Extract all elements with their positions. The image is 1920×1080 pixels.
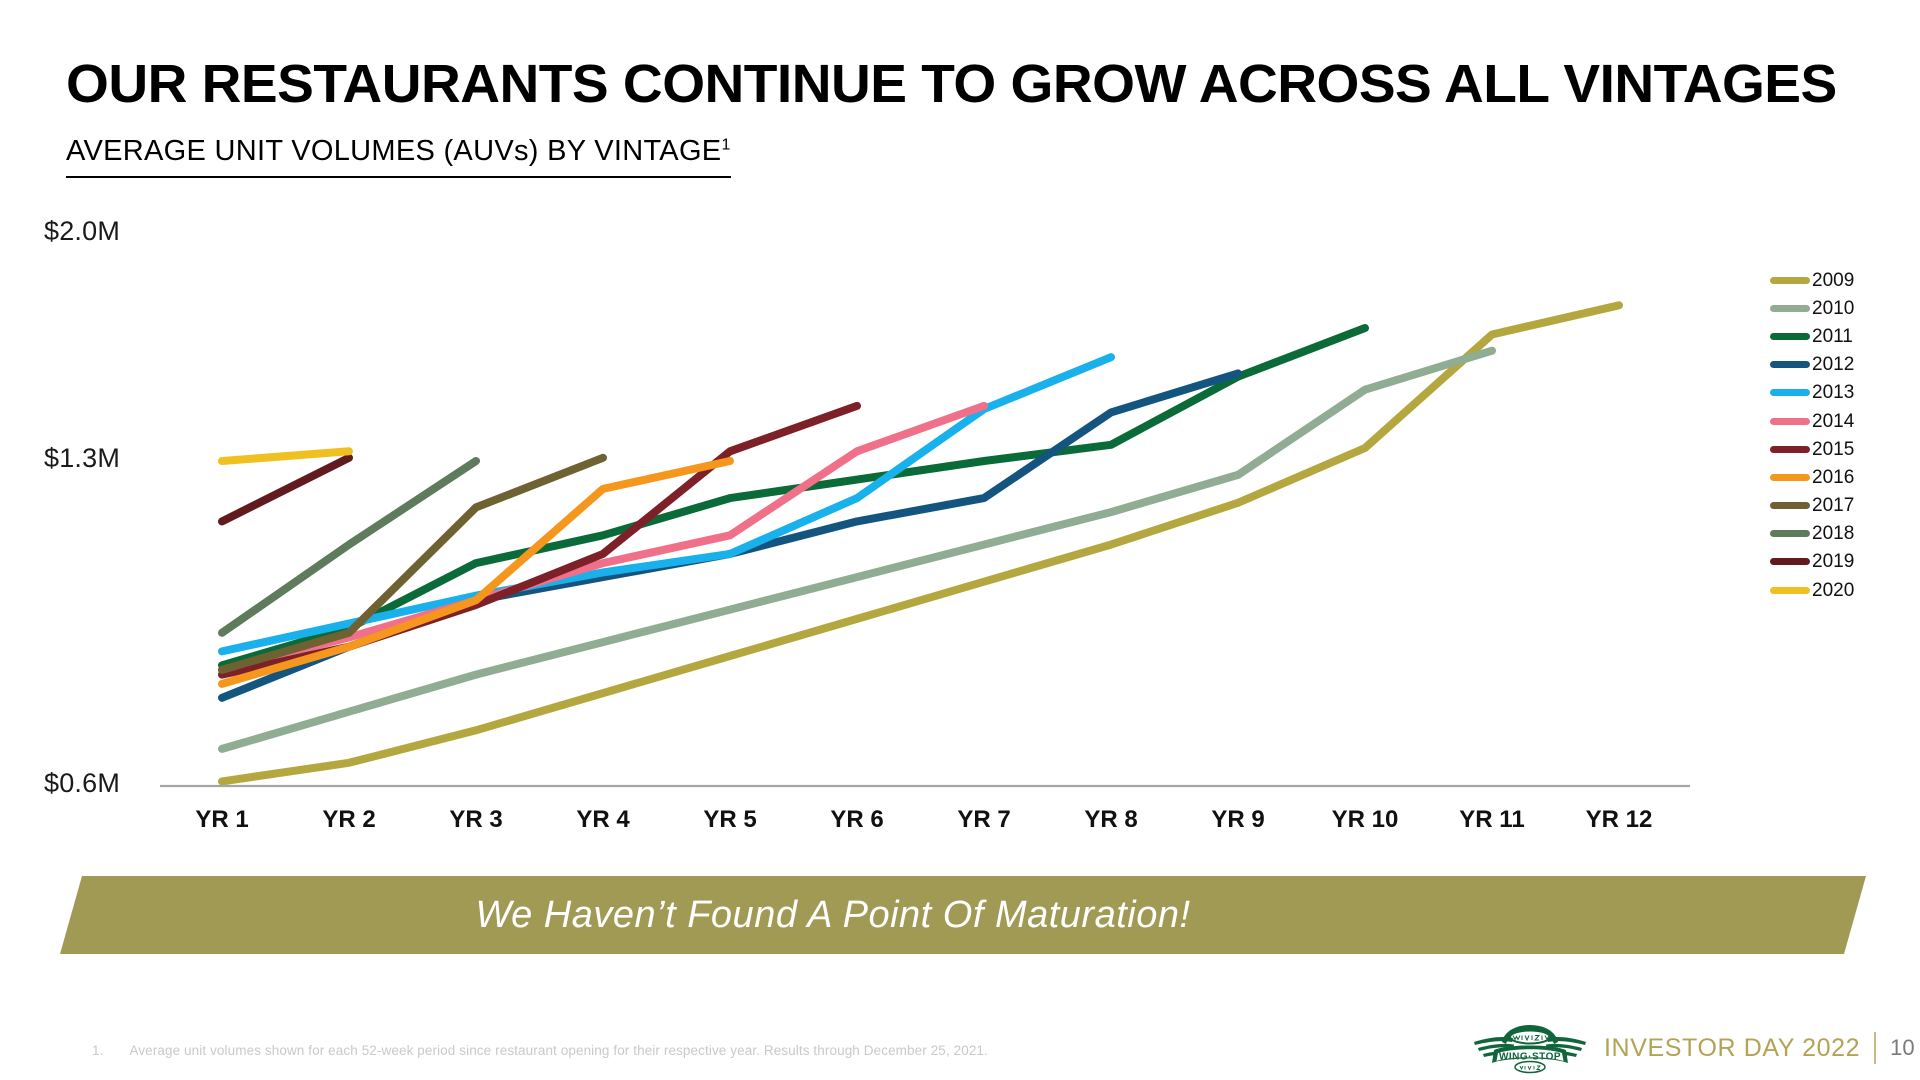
wingstop-logo: WING·STOP [1470,1020,1590,1076]
series-line-2014 [222,406,984,670]
series-line-2015 [222,406,857,675]
legend-swatch-icon [1770,361,1810,368]
legend-swatch-icon [1770,277,1810,284]
series-line-2009 [222,305,1619,781]
legend-swatch-icon [1770,502,1810,509]
legend-item-label: 2013 [1812,383,1854,402]
legend-item-label: 2017 [1812,496,1854,515]
x-tick-label: YR 8 [1051,806,1171,834]
chart-subtitle-text: AVERAGE UNIT VOLUMES (AUVs) BY VINTAGE [66,135,721,167]
series-line-2010 [222,351,1492,749]
x-tick-label: YR 9 [1178,806,1298,834]
series-line-2012 [222,373,1238,697]
footnote-marker: 1 [721,136,730,153]
legend-swatch-icon [1770,446,1810,453]
legend-swatch-icon [1770,474,1810,481]
footnote: 1. Average unit volumes shown for each 5… [92,1043,988,1058]
y-tick-label: $2.0M [44,216,120,247]
footer-brand: WING·STOP INVESTOR DAY 2022 10 [1470,1020,1915,1076]
slide-root: OUR RESTAURANTS CONTINUE TO GROW ACROSS … [0,0,1920,1080]
x-tick-label: YR 10 [1305,806,1425,834]
legend-item-2011[interactable]: 2011 [1770,322,1910,350]
series-line-2017 [222,458,603,670]
legend-swatch-icon [1770,418,1810,425]
legend-item-label: 2019 [1812,552,1854,571]
legend-item-2017[interactable]: 2017 [1770,492,1910,520]
legend-item-2009[interactable]: 2009 [1770,266,1910,294]
series-line-2016 [222,461,730,684]
legend-item-2015[interactable]: 2015 [1770,435,1910,463]
chart-subtitle: AVERAGE UNIT VOLUMES (AUVs) BY VINTAGE1 [66,135,731,178]
legend-item-label: 2014 [1812,412,1854,431]
series-line-2018 [222,461,476,633]
series-line-2019 [222,458,349,522]
chart-legend: 2009201020112012201320142015201620172018… [1770,266,1910,604]
x-tick-label: YR 3 [416,806,536,834]
legend-item-2012[interactable]: 2012 [1770,351,1910,379]
callout-banner-text: We Haven’t Found A Point Of Maturation! [475,894,1190,937]
legend-swatch-icon [1770,587,1810,594]
x-tick-label: YR 12 [1559,806,1679,834]
y-tick-label: $1.3M [44,443,120,474]
legend-item-label: 2020 [1812,581,1854,600]
page-number: 10 [1890,1035,1914,1061]
legend-item-label: 2016 [1812,468,1854,487]
legend-swatch-icon [1770,530,1810,537]
x-tick-label: YR 7 [924,806,1044,834]
legend-swatch-icon [1770,389,1810,396]
legend-item-2016[interactable]: 2016 [1770,463,1910,491]
legend-item-label: 2011 [1812,327,1853,346]
legend-item-label: 2015 [1812,440,1854,459]
page-title: OUR RESTAURANTS CONTINUE TO GROW ACROSS … [66,54,1902,114]
footnote-number: 1. [92,1043,103,1058]
footnote-text: Average unit volumes shown for each 52-w… [129,1043,987,1058]
legend-item-2020[interactable]: 2020 [1770,576,1910,604]
series-line-2013 [222,357,1111,651]
legend-item-label: 2010 [1812,299,1854,318]
legend-item-label: 2012 [1812,355,1854,374]
legend-item-2010[interactable]: 2010 [1770,294,1910,322]
legend-item-2014[interactable]: 2014 [1770,407,1910,435]
x-tick-label: YR 5 [670,806,790,834]
legend-swatch-icon [1770,558,1810,565]
x-tick-label: YR 2 [289,806,409,834]
legend-item-2013[interactable]: 2013 [1770,379,1910,407]
series-layer [222,305,1619,781]
legend-swatch-icon [1770,305,1810,312]
series-line-2011 [222,328,1365,665]
callout-banner: We Haven’t Found A Point Of Maturation! [60,876,1866,954]
footer-divider [1874,1032,1876,1064]
legend-item-label: 2009 [1812,271,1854,290]
legend-item-label: 2018 [1812,524,1854,543]
x-tick-label: YR 1 [162,806,282,834]
investor-day-label: INVESTOR DAY 2022 [1604,1034,1860,1063]
x-tick-label: YR 11 [1432,806,1552,834]
legend-item-2018[interactable]: 2018 [1770,520,1910,548]
legend-item-2019[interactable]: 2019 [1770,548,1910,576]
x-tick-label: YR 4 [543,806,663,834]
legend-swatch-icon [1770,333,1810,340]
y-tick-label: $0.6M [44,768,120,799]
series-line-2020 [222,451,349,461]
x-tick-label: YR 6 [797,806,917,834]
